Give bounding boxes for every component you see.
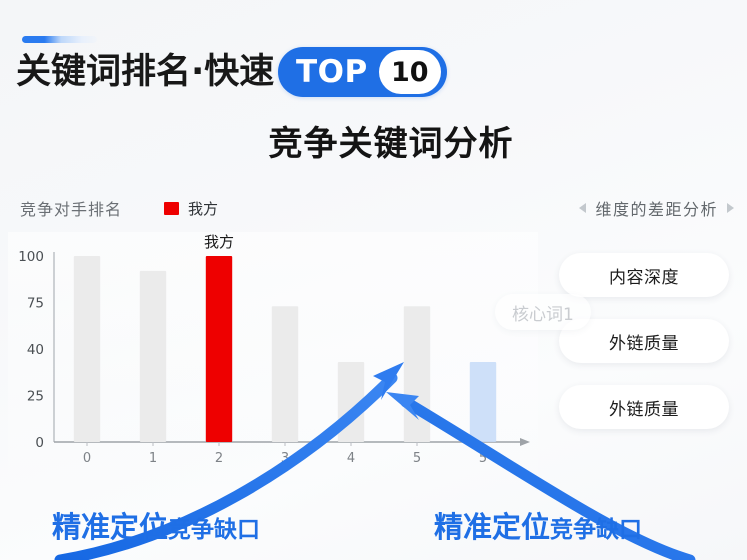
x-tick-label: 3: [281, 451, 289, 466]
badge-number: 10: [379, 50, 441, 94]
bar: [74, 256, 100, 442]
poster-canvas: 关键词排名·快速 TOP 10 竞争关键词分析 竞争对手排名 我方 维度的差距分…: [0, 0, 747, 560]
callout-right: 精准定位 竞争缺口: [434, 504, 642, 546]
x-tick-label: 1: [149, 451, 157, 466]
keyword-chip[interactable]: 核心词1: [495, 294, 591, 330]
x-tick-label: 5: [413, 451, 421, 466]
bar: [272, 306, 298, 442]
chart-legend: 我方: [164, 198, 218, 219]
bar: [338, 362, 364, 442]
top10-badge: TOP 10: [278, 47, 447, 97]
caret-left-icon: [579, 203, 586, 213]
legend-label: 我方: [188, 198, 218, 219]
decorative-progress-bar: [22, 36, 97, 43]
dimension-card[interactable]: 外链质量: [559, 385, 729, 429]
bar: [140, 271, 166, 442]
headline-group: 关键词排名·快速: [16, 46, 274, 98]
x-tick-label: 5: [479, 451, 487, 466]
legend-swatch-icon: [164, 202, 179, 215]
dimension-gap-caption: 维度的差距分析: [595, 196, 718, 220]
callout-right-secondary: 竞争缺口: [550, 510, 642, 544]
y-tick-label: 75: [27, 296, 44, 312]
bar-chart-svg: 1007540250012我方3455: [8, 232, 538, 484]
x-axis-arrow-icon: [520, 438, 530, 446]
callout-right-primary: 精准定位: [434, 504, 550, 546]
callout-left: 精准定位 竞争缺口: [52, 504, 260, 546]
y-tick-label: 100: [18, 249, 44, 265]
bar-highlight-label: 我方: [204, 233, 234, 251]
y-tick-label: 0: [35, 435, 44, 451]
chart-header-row: 竞争对手排名 我方: [20, 196, 218, 220]
bar-focus: [470, 362, 496, 442]
callout-left-secondary: 竞争缺口: [168, 510, 260, 544]
dimension-card-list: 内容深度 外链质量 外链质量: [559, 253, 729, 429]
caret-right-icon: [727, 203, 734, 213]
chart-caption: 竞争对手排名: [20, 196, 122, 220]
x-tick-label: 4: [347, 451, 355, 466]
bar: [404, 306, 430, 442]
callout-left-primary: 精准定位: [52, 504, 168, 546]
y-tick-label: 25: [27, 389, 44, 405]
x-tick-label: 0: [83, 451, 91, 466]
dimension-gap-header: 维度的差距分析: [579, 196, 734, 220]
page-title: 竞争关键词分析: [0, 116, 747, 165]
x-tick-label: 2: [215, 451, 223, 466]
bar-chart: 1007540250012我方3455: [8, 232, 538, 484]
dimension-card[interactable]: 内容深度: [559, 253, 729, 297]
headline-text: 关键词排名·快速: [16, 55, 274, 90]
badge-top-label: TOP: [296, 57, 368, 88]
y-tick-label: 40: [27, 342, 44, 358]
bar-highlighted: [206, 256, 232, 442]
